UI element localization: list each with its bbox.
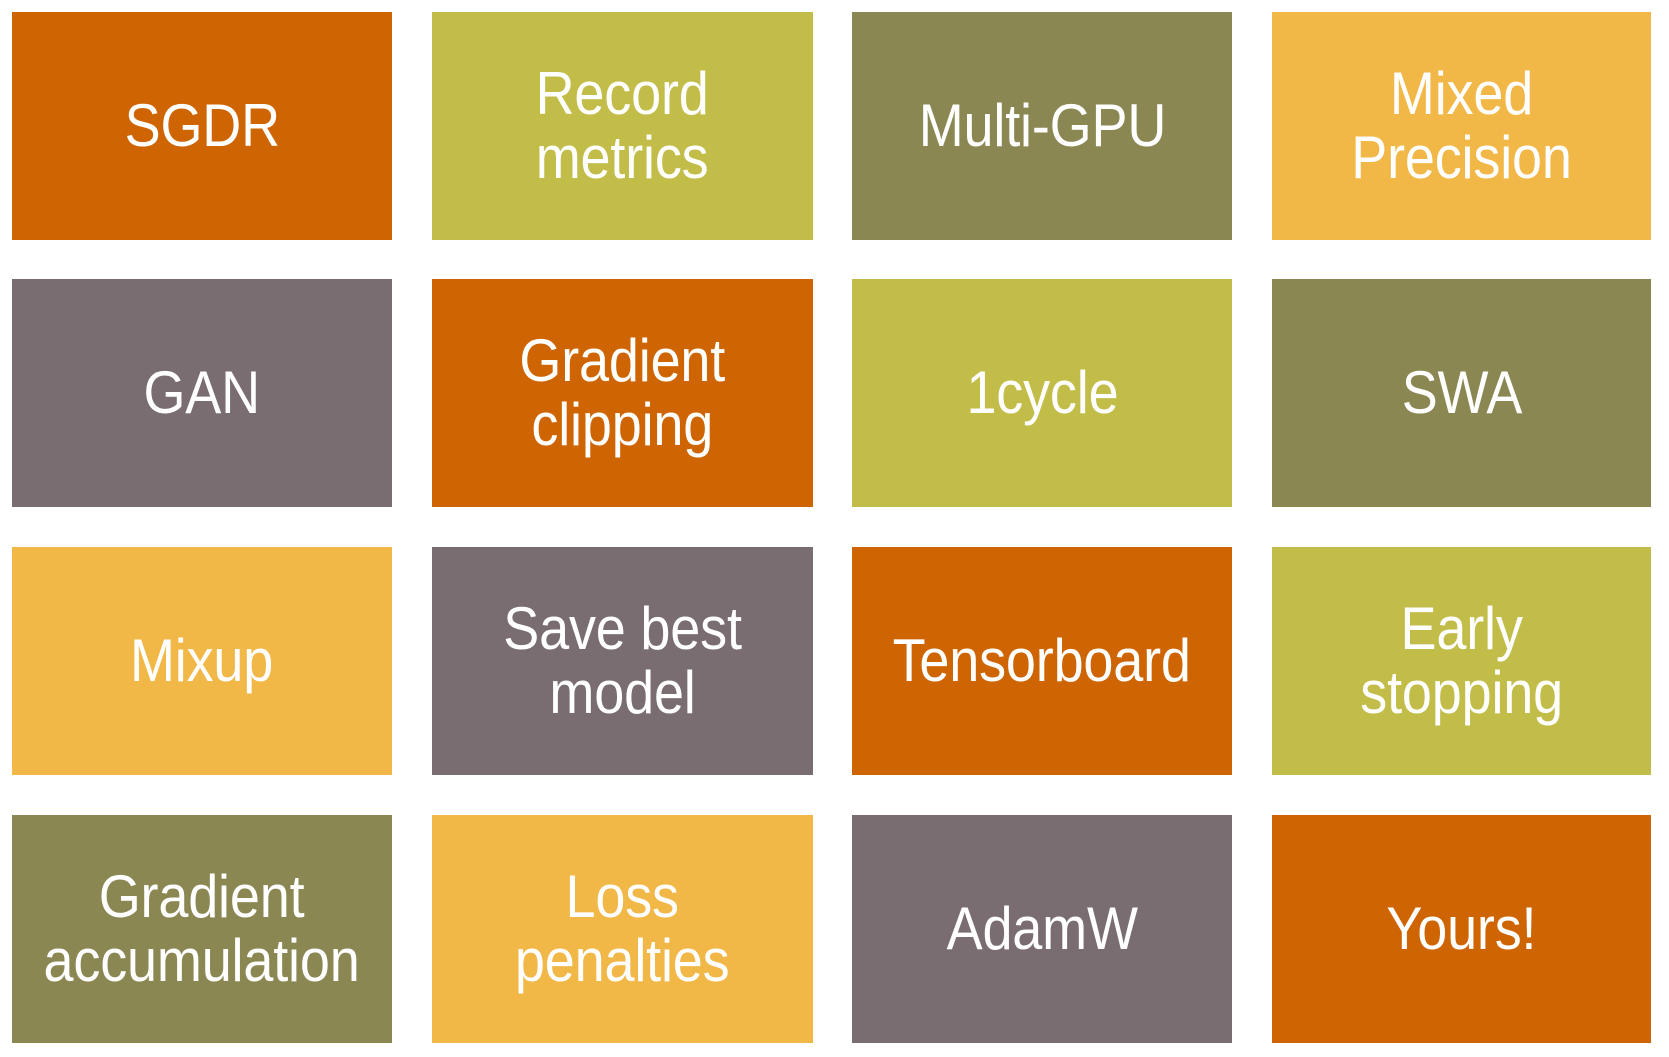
tile-tensorboard[interactable]: Tensorboard: [852, 547, 1232, 775]
tile-label: Yours!: [1386, 897, 1536, 961]
tile-label: GAN: [144, 361, 260, 425]
tile-sgdr[interactable]: SGDR: [12, 12, 392, 240]
tile-mixed-precision[interactable]: Mixed Precision: [1272, 12, 1651, 240]
tile-label: Early stopping: [1360, 597, 1563, 725]
tile-gradient-clipping[interactable]: Gradient clipping: [432, 279, 813, 507]
tile-label: 1cycle: [966, 361, 1118, 425]
tile-record-metrics[interactable]: Record metrics: [432, 12, 813, 240]
tile-label: Mixup: [130, 629, 273, 693]
tile-label: Multi-GPU: [918, 94, 1165, 158]
tile-adamw[interactable]: AdamW: [852, 815, 1232, 1043]
tile-loss-penalties[interactable]: Loss penalties: [432, 815, 813, 1043]
tile-early-stopping[interactable]: Early stopping: [1272, 547, 1651, 775]
tile-yours[interactable]: Yours!: [1272, 815, 1651, 1043]
tile-label: Tensorboard: [893, 629, 1191, 693]
tile-swa[interactable]: SWA: [1272, 279, 1651, 507]
tile-label: Save best model: [503, 597, 742, 725]
tile-gan[interactable]: GAN: [12, 279, 392, 507]
tile-gradient-accumulation[interactable]: Gradient accumulation: [12, 815, 392, 1043]
tile-grid: SGDRRecord metricsMulti-GPUMixed Precisi…: [0, 0, 1669, 1057]
tile-label: Mixed Precision: [1351, 62, 1571, 190]
tile-label: AdamW: [946, 897, 1137, 961]
tile-label: Gradient accumulation: [44, 865, 360, 993]
tile-label: Gradient clipping: [520, 329, 726, 457]
tile-label: SGDR: [124, 94, 279, 158]
tile-multi-gpu[interactable]: Multi-GPU: [852, 12, 1232, 240]
tile-label: Record metrics: [536, 62, 709, 190]
tile-label: Loss penalties: [515, 865, 730, 993]
tile-mixup[interactable]: Mixup: [12, 547, 392, 775]
tile-1cycle[interactable]: 1cycle: [852, 279, 1232, 507]
tile-label: SWA: [1401, 361, 1521, 425]
tile-save-best-model[interactable]: Save best model: [432, 547, 813, 775]
